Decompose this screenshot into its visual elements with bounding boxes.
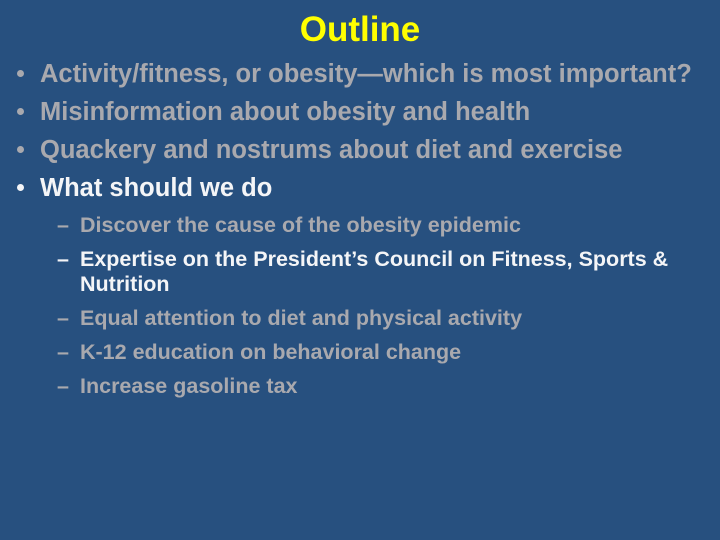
presentation-slide: Outline Activity/fitness, or obesity—whi… xyxy=(0,0,720,540)
bullet-dot-icon xyxy=(17,174,35,203)
bullet-dot-icon xyxy=(17,60,35,89)
sub-bullet-item-label: K-12 education on behavioral change xyxy=(80,340,461,364)
sub-bullet-item-discover-cause: – Discover the cause of the obesity epid… xyxy=(0,213,720,238)
bullet-item-activity-fitness: Activity/fitness, or obesity—which is mo… xyxy=(0,60,720,89)
sub-bullet-item-label: Expertise on the President’s Council on … xyxy=(80,247,668,296)
sub-bullet-item-label: Discover the cause of the obesity epidem… xyxy=(80,213,521,237)
bullet-dash-icon: – xyxy=(57,213,77,238)
bullet-item-label: Activity/fitness, or obesity—which is mo… xyxy=(40,60,692,88)
sub-bullet-item-label: Equal attention to diet and physical act… xyxy=(80,306,522,330)
sub-bullet-item-increase-gasoline-tax: – Increase gasoline tax xyxy=(0,374,720,399)
bullet-item-label: What should we do xyxy=(40,174,272,202)
bullet-item-label: Quackery and nostrums about diet and exe… xyxy=(40,136,622,164)
bullet-dash-icon: – xyxy=(57,247,77,272)
bullet-dash-icon: – xyxy=(57,306,77,331)
sub-bullet-item-expertise-presidents-council: – Expertise on the President’s Council o… xyxy=(0,247,720,297)
bullet-item-misinformation: Misinformation about obesity and health xyxy=(0,98,720,127)
bullet-dash-icon: – xyxy=(57,374,77,399)
sub-bullet-item-label: Increase gasoline tax xyxy=(80,374,298,398)
bullet-item-label: Misinformation about obesity and health xyxy=(40,98,530,126)
bullet-dash-icon: – xyxy=(57,340,77,365)
bullet-dot-icon xyxy=(17,136,35,165)
bullet-item-what-should-we-do: What should we do xyxy=(0,174,720,203)
sub-bullet-item-k12-education: – K-12 education on behavioral change xyxy=(0,340,720,365)
outline-bullet-list: Activity/fitness, or obesity—which is mo… xyxy=(0,60,720,402)
bullet-dot-icon xyxy=(17,98,35,127)
bullet-item-quackery: Quackery and nostrums about diet and exe… xyxy=(0,136,720,165)
sub-bullet-item-equal-attention: – Equal attention to diet and physical a… xyxy=(0,306,720,331)
page-title: Outline xyxy=(0,8,720,52)
